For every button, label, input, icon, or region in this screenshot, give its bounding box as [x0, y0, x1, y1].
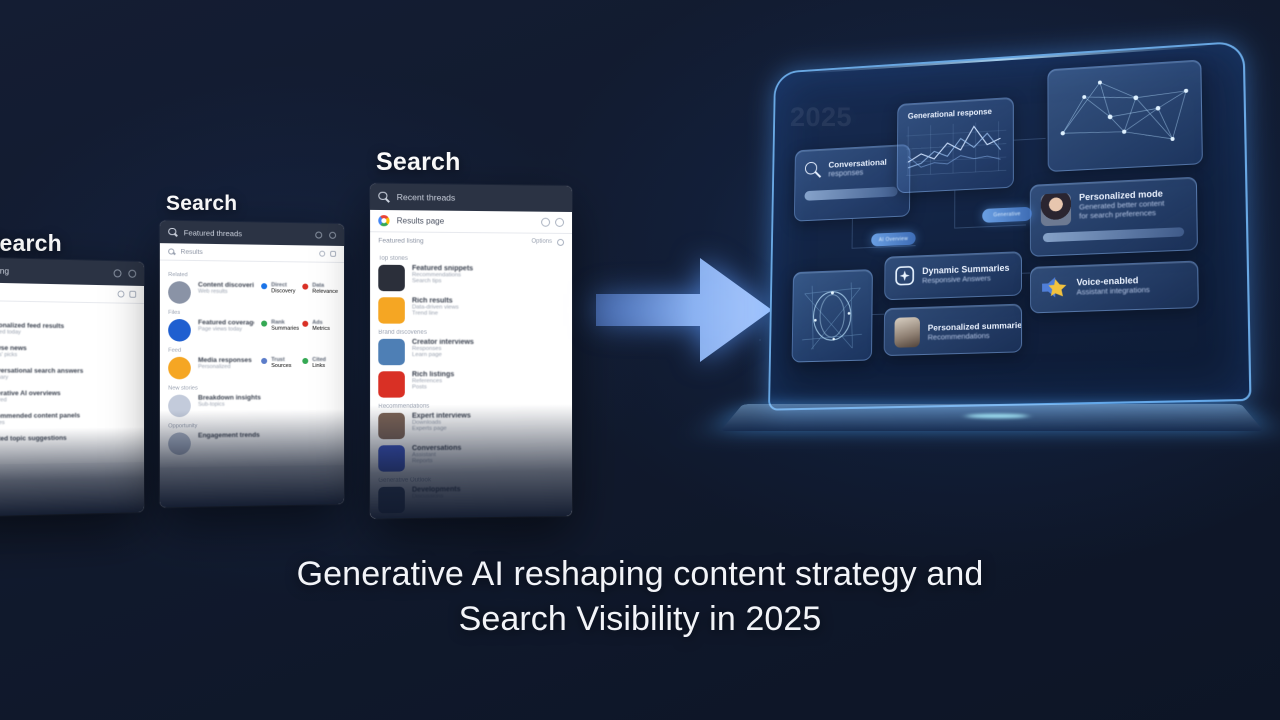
list-item[interactable]: Rich resultsData-driven viewsTrend line — [378, 297, 564, 324]
panel-3-title: Search — [376, 148, 461, 177]
chip-label: Data — [312, 283, 338, 289]
chip-sublabel: Links — [312, 363, 326, 369]
panel-1-title: Search — [0, 230, 62, 257]
card-subtitle: responses — [828, 167, 886, 179]
section-label: Related — [168, 272, 336, 280]
panel-2-results-list: RelatedContent discoveriesWeb resultsDir… — [160, 261, 344, 468]
result-subtitle-2: Experts page — [412, 425, 564, 432]
result-thumbnail — [168, 395, 191, 418]
list-item[interactable]: ConversationsAssistantReports — [378, 444, 564, 472]
photo-thumb — [894, 317, 920, 348]
list-item[interactable]: Featured coveragePage views todayRankSum… — [168, 319, 336, 342]
search-panel-2: Featured threads Results RelatedContent … — [160, 221, 344, 508]
neural-orb-icon — [793, 270, 872, 361]
caption-line-2: Search Visibility in 2025 — [0, 597, 1280, 642]
section-label: Files — [168, 310, 336, 317]
result-chip[interactable]: AdsMetrics — [302, 320, 336, 332]
connector-pill-2[interactable]: Generative — [982, 207, 1032, 223]
list-item[interactable]: Breakdown insightsSub-topics — [168, 394, 336, 417]
panel-3-options[interactable]: Options — [531, 238, 564, 245]
search-icon — [168, 227, 177, 236]
generational-response-chart-card[interactable]: Generational response — [897, 97, 1014, 193]
result-subtitle-2: Search tips — [412, 278, 564, 285]
account-icon[interactable] — [114, 269, 122, 277]
result-thumbnail — [168, 432, 191, 455]
sort-icon[interactable] — [129, 291, 136, 298]
section-label: New stories — [168, 385, 336, 392]
search-input-bar[interactable] — [804, 187, 897, 201]
connector-pill-1[interactable]: AI Overview — [871, 232, 915, 247]
list-item[interactable]: Related topic suggestionsMore — [0, 434, 136, 452]
voice-star-icon — [1041, 276, 1067, 299]
card-subtitle: Assistant integrations — [1077, 284, 1150, 296]
sort-icon[interactable] — [330, 251, 336, 257]
panel-2-header-icons[interactable] — [315, 231, 336, 238]
panel-2-title: Search — [166, 192, 237, 216]
result-subtitle: Summary — [0, 375, 136, 381]
panel-3-search-input[interactable]: Recent threads — [397, 192, 456, 203]
chip-dot — [302, 358, 308, 364]
search-panel-1: Trending Results DiscoverPersonalized fe… — [0, 257, 144, 517]
list-item[interactable]: Featured snippetsRecommendationsSearch t… — [378, 265, 564, 292]
section-label: Feed — [168, 348, 336, 354]
conversational-search-card[interactable]: Conversational responses — [794, 144, 911, 222]
panel-1-header-icons[interactable] — [114, 269, 137, 278]
result-chip[interactable]: CitedLinks — [302, 357, 336, 369]
list-item[interactable]: Content discoveriesWeb resultsDirectDisc… — [168, 281, 336, 305]
sparkle-icon — [895, 265, 915, 286]
list-item[interactable]: Rich listingsReferencesPosts — [378, 371, 564, 398]
progress-bar — [1043, 227, 1184, 242]
panel-2-search-header[interactable]: Featured threads — [160, 221, 344, 246]
pill-label: AI Overview — [879, 236, 908, 243]
result-thumbnail — [168, 281, 191, 304]
result-subtitle: Updated today — [0, 329, 136, 337]
pill-label: Generative — [993, 211, 1020, 218]
list-item[interactable]: Media responsesPersonalizedTrustSourcesC… — [168, 357, 336, 380]
panel-3-search-header[interactable]: Recent threads — [370, 183, 572, 212]
network-graph-card[interactable] — [1047, 59, 1203, 172]
panel-1-search-input[interactable]: Trending — [0, 265, 9, 275]
list-item[interactable]: Personalized feed resultsUpdated today — [0, 322, 136, 340]
result-subtitle-2: Posts — [412, 384, 564, 390]
panel-3-toolbar[interactable]: Featured listing Options — [370, 232, 572, 250]
ai-orb-card[interactable] — [792, 269, 873, 363]
chip-dot — [261, 321, 267, 327]
result-thumbnail — [378, 297, 405, 323]
result-subtitle-2: Reports — [412, 457, 564, 464]
result-title: Creator interviews — [412, 339, 564, 346]
personalized-mode-card[interactable]: Personalized mode Generated better conte… — [1030, 177, 1198, 257]
search-icon — [378, 191, 389, 202]
panel-1-results-list: DiscoverPersonalized feed resultsUpdated… — [0, 301, 144, 465]
list-item[interactable]: Chat historySynthesis — [378, 517, 564, 518]
laptop-base — [720, 404, 1263, 431]
result-thumbnail — [378, 265, 405, 291]
results-icon — [168, 248, 175, 255]
list-item[interactable]: Recommended content panelsSources — [0, 412, 136, 430]
result-thumbnail — [378, 445, 405, 472]
laptop-screen: Conversational responses Generational re… — [768, 41, 1251, 411]
caption-line-1: Generative AI reshaping content strategy… — [0, 552, 1280, 597]
account-icon[interactable] — [315, 231, 322, 238]
result-subtitle: More — [0, 441, 136, 449]
section-label: Generative Outlook — [378, 476, 564, 484]
personalized-summaries-card[interactable]: Personalized summaries Recommendations — [884, 304, 1022, 357]
section-label: Recommendations — [378, 403, 564, 410]
list-item[interactable]: Browse newsEditors' picks — [0, 344, 136, 362]
list-item[interactable]: Engagement trends — [168, 431, 336, 455]
chip-dot — [302, 284, 308, 290]
filter-icon[interactable] — [118, 290, 125, 297]
panel-3-sub-label: Featured listing — [378, 237, 423, 244]
network-graph — [1048, 61, 1202, 171]
result-chip[interactable]: DataRelevance — [302, 283, 336, 295]
result-subtitle: Personalized — [198, 364, 254, 370]
account-icon[interactable] — [541, 218, 550, 227]
result-thumbnail — [168, 357, 191, 380]
panel-3-subheader-label: Results page — [397, 216, 445, 226]
result-thumbnail — [378, 487, 405, 514]
chip-label: Direct — [271, 282, 295, 288]
chip-dot — [302, 321, 308, 327]
voice-enabled-card[interactable]: Voice-enabled Assistant integrations — [1030, 260, 1199, 313]
caption-block: Generative AI reshaping content strategy… — [0, 552, 1280, 642]
result-subtitle: Page views today — [198, 326, 254, 332]
list-item[interactable]: Creator interviewsResponsesLearn page — [378, 339, 564, 365]
result-thumbnail — [378, 339, 405, 365]
panel-2-subheader-label: Results — [181, 248, 203, 255]
panel-3-options-label[interactable]: Options — [531, 239, 552, 245]
result-subtitle: Web results — [198, 289, 254, 296]
card-subtitle: Responsive Answers — [922, 272, 1009, 284]
search-panel-3: Recent threads Results page Featured lis… — [370, 183, 572, 518]
settings-icon[interactable] — [557, 238, 564, 245]
line-chart — [898, 115, 1013, 182]
card-subtitle: Recommendations — [928, 329, 1022, 341]
list-item[interactable]: Expert interviewsDownloadsExperts page — [378, 412, 564, 439]
google-g-logo — [378, 215, 389, 226]
result-subtitle: Discussions — [412, 492, 564, 500]
result-thumbnail — [168, 319, 191, 342]
filter-icon[interactable] — [319, 251, 325, 257]
chip-dot — [261, 283, 267, 289]
section-label: Discover — [0, 312, 136, 321]
panel-3-brand-bar: Results page — [370, 210, 572, 234]
more-icon[interactable] — [329, 231, 336, 238]
chip-sublabel: Discovery — [271, 288, 295, 294]
dynamic-summaries-card[interactable]: Dynamic Summaries Responsive Answers — [884, 251, 1022, 300]
result-chip[interactable]: RankSummaries — [261, 320, 295, 332]
chip-label: Rank — [271, 320, 299, 326]
panel-2-search-input[interactable]: Featured threads — [184, 228, 242, 238]
result-title: Media responses — [198, 357, 254, 364]
chip-sublabel: Relevance — [312, 289, 338, 295]
list-item[interactable]: Conversational search answersSummary — [0, 367, 136, 384]
chip-sublabel: Sources — [271, 363, 291, 369]
chip-sublabel: Metrics — [312, 326, 330, 332]
chip-label: Cited — [312, 357, 326, 363]
result-subtitle-2: Learn page — [412, 352, 564, 358]
panel-3-results-grid: Top storiesFeatured snippetsRecommendati… — [370, 248, 572, 518]
laptop-device: 2025 Conversational responses Generation… — [716, 44, 1256, 464]
search-icon — [805, 161, 822, 179]
result-subtitle: Sub-topics — [198, 401, 336, 408]
result-subtitle: Editors' picks — [0, 352, 136, 359]
result-chip[interactable]: DirectDiscovery — [261, 282, 295, 294]
section-label: Top stories — [378, 256, 564, 263]
panel-2-toolbar[interactable] — [319, 251, 336, 257]
more-icon[interactable] — [555, 218, 564, 227]
result-subtitle: Sources — [0, 419, 136, 426]
panel-1-toolbar[interactable] — [118, 290, 137, 297]
list-item[interactable]: Generative AI overviewsFeatured — [0, 390, 136, 407]
illustration-canvas: Search Trending Results DiscoverPersonal… — [0, 0, 1280, 720]
user-avatar — [1041, 193, 1071, 226]
result-subtitle: Featured — [0, 397, 136, 404]
chip-label: Ads — [312, 320, 330, 326]
result-chip[interactable]: TrustSources — [261, 357, 295, 369]
result-subtitle-2: Trend line — [412, 311, 564, 317]
result-title: Engagement trends — [198, 431, 336, 439]
chip-label: Trust — [271, 357, 291, 363]
chip-dot — [261, 358, 267, 364]
panel-3-header-icons[interactable] — [541, 218, 564, 227]
result-thumbnail — [378, 413, 405, 439]
result-title: Chat history — [412, 517, 564, 518]
more-icon[interactable] — [128, 270, 136, 278]
panel-1-search-header[interactable]: Trending — [0, 257, 144, 286]
list-item[interactable]: DevelopmentsDiscussions — [378, 485, 564, 513]
result-thumbnail — [378, 371, 405, 397]
section-label: Opportunity — [168, 422, 336, 429]
section-label: Brand discoveries — [378, 330, 564, 336]
chip-sublabel: Summaries — [271, 326, 299, 332]
